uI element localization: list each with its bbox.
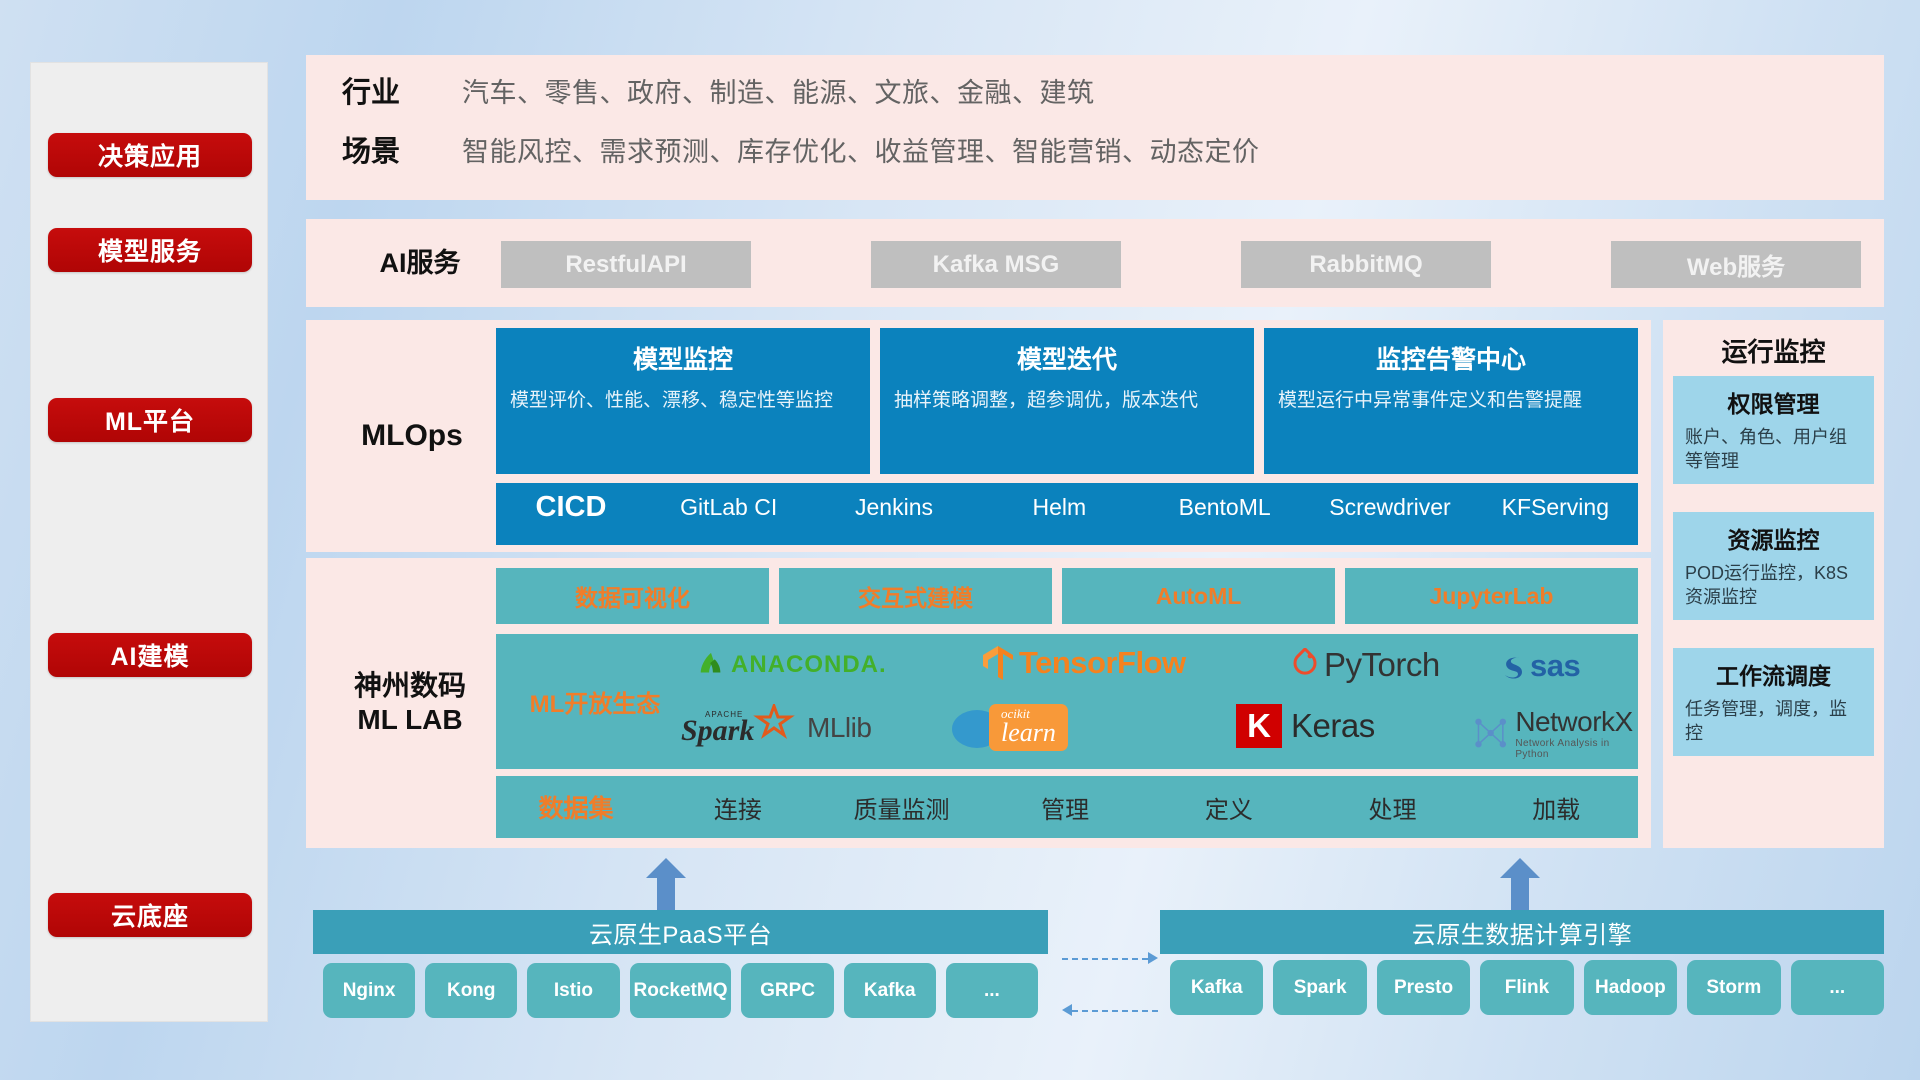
runtime-monitor-heading: 运行监控 [1663,332,1884,369]
rail-label: AI建模 [110,637,189,673]
rail-label: 模型服务 [98,232,202,268]
paas-platform-title: 云原生PaaS平台 [589,915,772,950]
scikit-learn-wordmark: learn [1001,720,1056,746]
mlops-panel: MLOps 模型监控 模型评价、性能、漂移、稳定性等监控 模型迭代 抽样策略调整… [306,320,1651,552]
paas-chip-rocketmq[interactable]: RocketMQ [630,963,732,1018]
tool-chip-data-visualization[interactable]: 数据可视化 [496,568,769,624]
left-dash-arrow-icon [1062,1004,1072,1016]
paas-chip-kafka[interactable]: Kafka [844,963,936,1018]
right-dash-arrow-icon [1148,952,1158,964]
card-desc: 模型运行中异常事件定义和告警提醒 [1278,388,1624,413]
ml-ecosystem-label: ML开放生态 [510,684,680,719]
networkx-tagline: Network Analysis in Python [1515,738,1638,760]
networkx-logo: NetworkX Network Analysis in Python [1471,706,1638,760]
runtime-monitor-panel: 运行监控 权限管理 账户、角色、用户组等管理 资源监控 POD运行监控，K8S资… [1663,320,1884,848]
rail-item-ml-platform[interactable]: ML平台 [48,398,252,442]
monitor-card-resources[interactable]: 资源监控 POD运行监控，K8S资源监控 [1673,512,1874,620]
architecture-diagram: 决策应用 模型服务 ML平台 AI建模 云底座 行业 汽车、零售、政府、制造、能… [0,0,1920,1080]
chip-label: AutoML [1156,583,1242,610]
scikit-learn-badge: ocikit learn [989,704,1068,751]
card-title: 权限管理 [1685,385,1862,419]
engine-chip-spark[interactable]: Spark [1273,960,1366,1015]
sas-icon [1496,650,1528,682]
engine-chip-storm[interactable]: Storm [1687,960,1780,1015]
spark-icon: Spark APACHE [681,704,801,752]
paas-chip-nginx[interactable]: Nginx [323,963,415,1018]
cicd-item-bentoml[interactable]: BentoML [1142,491,1307,520]
ml-ecosystem-box: ML开放生态 ANACONDA. TensorFlow [496,634,1638,769]
data-engine-title: 云原生数据计算引擎 [1412,915,1633,950]
data-engine-header: 云原生数据计算引擎 [1160,910,1884,954]
mlops-card-model-iteration[interactable]: 模型迭代 抽样策略调整，超参调优，版本迭代 [880,328,1254,474]
service-chip-rabbitmq[interactable]: RabbitMQ [1241,241,1491,288]
paas-chip-row: Nginx Kong Istio RocketMQ GRPC Kafka ... [323,963,1038,1018]
anaconda-logo: ANACONDA. [696,650,887,680]
card-title: 监控告警中心 [1278,340,1624,376]
card-desc: POD运行监控，K8S资源监控 [1685,562,1862,610]
chip-label: RestfulAPI [565,251,686,279]
tool-chip-interactive-modeling[interactable]: 交互式建模 [779,568,1052,624]
pytorch-wordmark: PyTorch [1324,646,1440,684]
layer-rail: 决策应用 模型服务 ML平台 AI建模 云底座 [30,62,268,1022]
dataset-item-connect[interactable]: 连接 [656,790,820,825]
ml-lab-label-line2: ML LAB [357,703,462,737]
chip-label: 数据可视化 [575,579,690,613]
paas-up-arrow-icon [646,858,686,910]
paas-chip-grpc[interactable]: GRPC [741,963,833,1018]
tool-chip-automl[interactable]: AutoML [1062,568,1335,624]
cicd-bar: CICD GitLab CI Jenkins Helm BentoML Scre… [496,483,1638,545]
card-desc: 任务管理，调度，监控 [1685,698,1862,746]
tensorflow-logo: TensorFlow [981,644,1186,682]
card-desc: 账户、角色、用户组等管理 [1685,426,1862,474]
rail-item-ai-modeling[interactable]: AI建模 [48,633,252,677]
monitor-card-permissions[interactable]: 权限管理 账户、角色、用户组等管理 [1673,376,1874,484]
scikit-learn-logo: ocikit learn [951,704,1068,751]
dataset-item-load[interactable]: 加载 [1474,790,1638,825]
dataset-item-define[interactable]: 定义 [1147,790,1311,825]
cicd-item-screwdriver[interactable]: Screwdriver [1307,491,1472,520]
cicd-label: CICD [496,491,646,524]
decision-application-panel: 行业 汽车、零售、政府、制造、能源、文旅、金融、建筑 场景 智能风控、需求预测、… [306,55,1884,200]
paas-chip-kong[interactable]: Kong [425,963,517,1018]
card-desc: 模型评价、性能、漂移、稳定性等监控 [510,388,856,413]
rail-label: ML平台 [105,402,195,438]
engine-chip-presto[interactable]: Presto [1377,960,1470,1015]
service-chip-kafka-msg[interactable]: Kafka MSG [871,241,1121,288]
networkx-wordmark: NetworkX [1515,706,1638,738]
keras-logo: K Keras [1236,704,1375,748]
scenario-label: 场景 [342,128,462,170]
ml-lab-panel: 神州数码 ML LAB 数据可视化 交互式建模 AutoML JupyterLa… [306,558,1651,848]
industry-label: 行业 [342,69,462,111]
dataset-label: 数据集 [496,789,656,825]
industry-row: 行业 汽车、零售、政府、制造、能源、文旅、金融、建筑 [342,69,1095,111]
cicd-item-jenkins[interactable]: Jenkins [811,491,976,520]
sas-wordmark: sas [1530,648,1580,684]
tool-chip-jupyterlab[interactable]: JupyterLab [1345,568,1638,624]
mlops-label: MLOps [322,320,502,552]
anaconda-wordmark: ANACONDA. [731,651,887,679]
mlops-card-model-monitoring[interactable]: 模型监控 模型评价、性能、漂移、稳定性等监控 [496,328,870,474]
service-chip-restfulapi[interactable]: RestfulAPI [501,241,751,288]
paas-chip-istio[interactable]: Istio [527,963,619,1018]
rail-item-model-service[interactable]: 模型服务 [48,228,252,272]
dataset-item-quality[interactable]: 质量监测 [820,790,984,825]
card-title: 工作流调度 [1685,657,1862,691]
cicd-item-gitlab-ci[interactable]: GitLab CI [646,491,811,520]
paas-chip-more[interactable]: ... [946,963,1038,1018]
ml-lab-label: 神州数码 ML LAB [314,558,506,848]
chip-label: 交互式建模 [858,579,973,613]
chip-label: RabbitMQ [1309,251,1422,279]
spark-mllib-logo: Spark APACHE MLlib [681,704,871,752]
card-desc: 抽样策略调整，超参调优，版本迭代 [894,388,1240,413]
engine-chip-hadoop[interactable]: Hadoop [1584,960,1677,1015]
dataset-item-process[interactable]: 处理 [1311,790,1475,825]
monitor-card-workflow[interactable]: 工作流调度 任务管理，调度，监控 [1673,648,1874,756]
card-title: 模型迭代 [894,340,1240,376]
mllib-wordmark: MLlib [807,712,871,744]
engine-chip-more[interactable]: ... [1791,960,1884,1015]
industry-values: 汽车、零售、政府、制造、能源、文旅、金融、建筑 [462,71,1095,110]
anaconda-icon [696,650,726,680]
keras-wordmark: Keras [1291,707,1375,745]
ai-service-panel: AI服务 RestfulAPI Kafka MSG RabbitMQ Web服务 [306,219,1884,307]
cicd-item-kfserving[interactable]: KFServing [1473,491,1638,520]
rail-item-decision[interactable]: 决策应用 [48,133,252,177]
keras-icon: K [1236,704,1282,748]
pytorch-logo: PyTorch [1290,646,1440,684]
dataset-item-manage[interactable]: 管理 [983,790,1147,825]
tensorflow-icon [981,644,1015,682]
tensorflow-wordmark: TensorFlow [1019,645,1186,681]
pytorch-icon [1290,648,1320,682]
scenario-values: 智能风控、需求预测、库存优化、收益管理、智能营销、动态定价 [462,130,1260,169]
card-title: 模型监控 [510,340,856,376]
rail-label: 云底座 [111,897,189,933]
chip-label: Web服务 [1687,247,1785,282]
rail-item-cloud-base[interactable]: 云底座 [48,893,252,937]
chip-label: JupyterLab [1430,583,1554,610]
left-dash-line [1072,1010,1158,1012]
card-title: 资源监控 [1685,521,1862,555]
engine-chip-flink[interactable]: Flink [1480,960,1573,1015]
scenario-row: 场景 智能风控、需求预测、库存优化、收益管理、智能营销、动态定价 [342,128,1260,170]
right-dash-line [1062,958,1148,960]
service-chip-web-service[interactable]: Web服务 [1611,241,1861,288]
sas-logo: sas [1496,648,1580,684]
paas-platform-header: 云原生PaaS平台 [313,910,1048,954]
ml-lab-label-line1: 神州数码 [354,669,466,703]
data-engine-chip-row: Kafka Spark Presto Flink Hadoop Storm ..… [1170,960,1884,1015]
networkx-icon [1471,713,1510,753]
data-engine-up-arrow-icon [1500,858,1540,910]
ai-service-label: AI服务 [330,219,510,307]
chip-label: Kafka MSG [933,251,1060,279]
rail-label: 决策应用 [98,137,202,173]
cicd-item-helm[interactable]: Helm [977,491,1142,520]
dataset-bar: 数据集 连接 质量监测 管理 定义 处理 加载 [496,776,1638,838]
engine-chip-kafka[interactable]: Kafka [1170,960,1263,1015]
mlops-card-alert-center[interactable]: 监控告警中心 模型运行中异常事件定义和告警提醒 [1264,328,1638,474]
svg-text:APACHE: APACHE [705,710,743,719]
